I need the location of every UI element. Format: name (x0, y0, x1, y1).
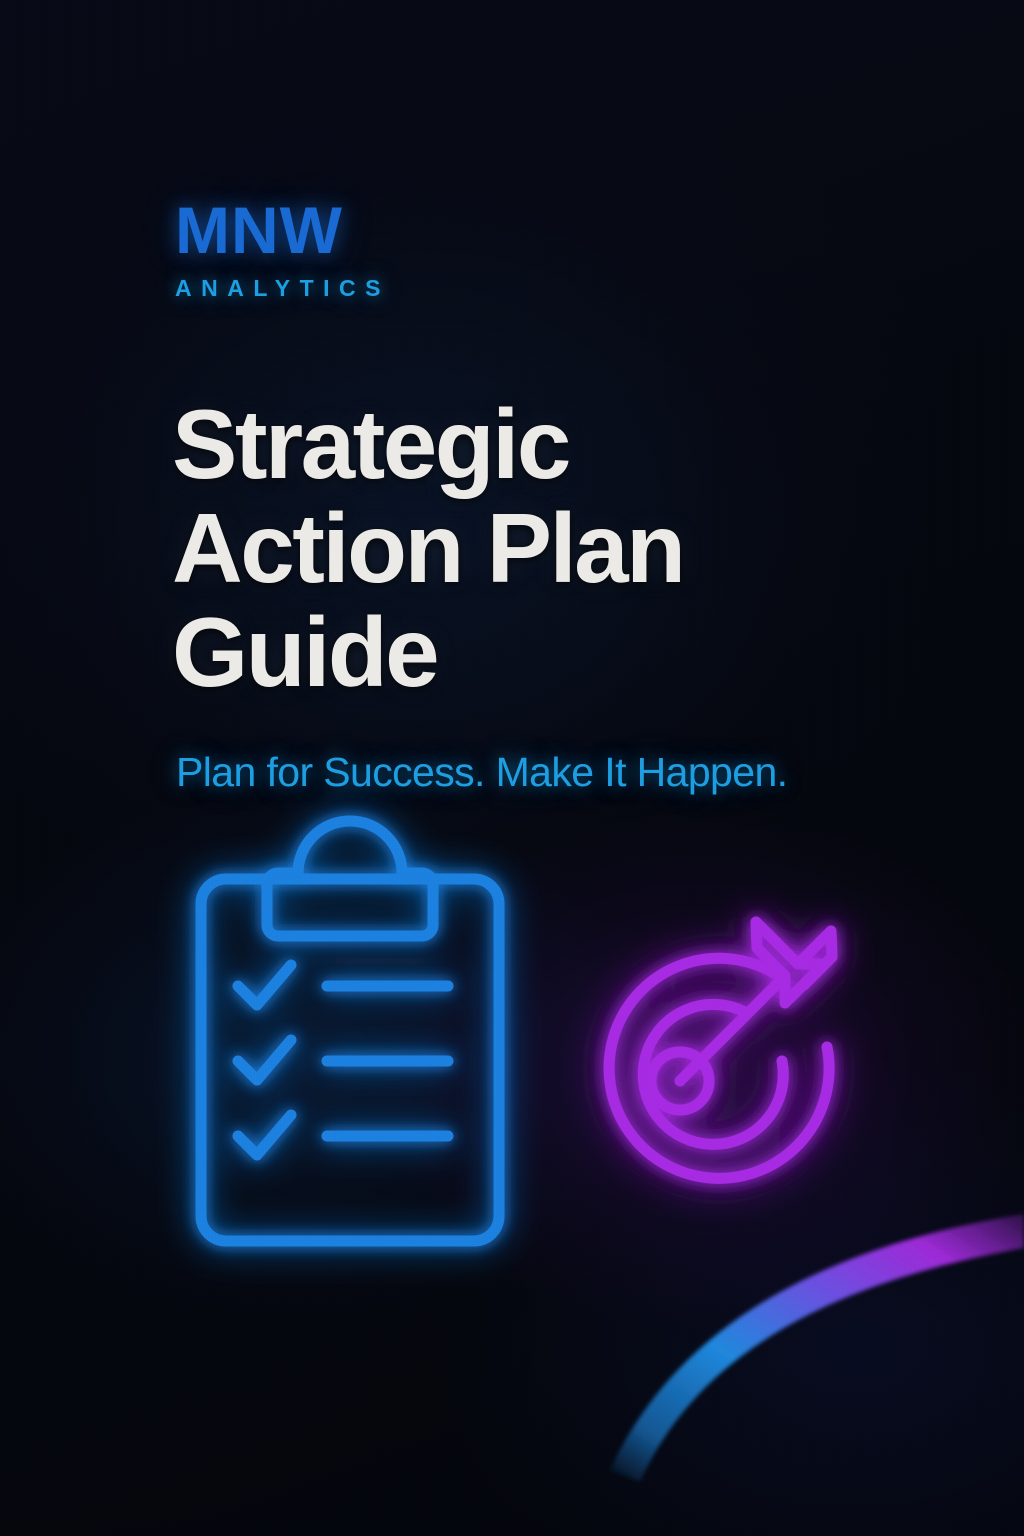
clipboard-check-2 (238, 1040, 291, 1080)
title-line-3: Guide (172, 600, 792, 704)
swoosh-band (610, 1214, 1024, 1482)
clipboard-check-3 (238, 1115, 291, 1155)
clipboard-clip-body (267, 895, 433, 936)
title-line-2: Action Plan (172, 496, 792, 600)
arrow-shaft (680, 976, 785, 1081)
arrow-flight-upper (798, 931, 832, 985)
brand-wordmark: MNW (175, 197, 775, 263)
title-line-1: Strategic (172, 392, 792, 496)
cover-page: MNW ANALYTICS Strategic Action Plan Guid… (0, 0, 1024, 1536)
clipboard-checklist-icon (190, 848, 510, 1252)
page-title: Strategic Action Plan Guide (172, 392, 792, 704)
brand-logo: MNW ANALYTICS (175, 197, 775, 301)
clipboard-check-1 (238, 965, 291, 1005)
target-arrow-icon (552, 908, 872, 1232)
subtitle-tagline: Plan for Success. Make It Happen. (176, 748, 787, 796)
brand-tagline-analytics: ANALYTICS (175, 275, 775, 301)
